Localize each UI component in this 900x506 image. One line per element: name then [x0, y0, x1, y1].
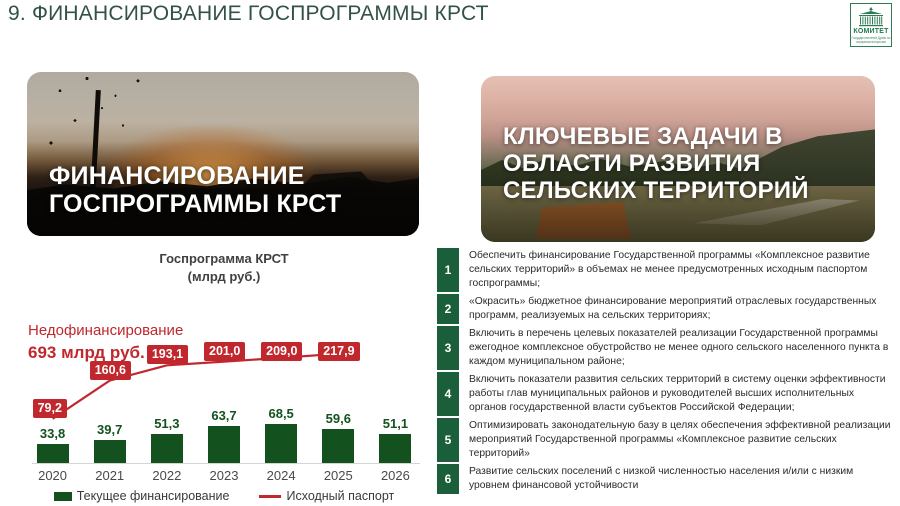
- x-axis-tick-label: 2020: [26, 468, 80, 483]
- logo-wordmark: КОМИТЕТ: [853, 28, 888, 35]
- task-number-badge: 2: [437, 294, 459, 324]
- task-row[interactable]: 4Включить показатели развития сельских т…: [437, 372, 893, 416]
- banner-right-title: КЛЮЧЕВЫЕ ЗАДАЧИ В ОБЛАСТИ РАЗВИТИЯ СЕЛЬС…: [503, 124, 859, 205]
- x-axis-tick-label: 2024: [254, 468, 308, 483]
- banner-left-title: ФИНАНСИРОВАНИЕ ГОСПРОГРАММЫ КРСТ: [49, 162, 403, 218]
- key-tasks-list: 1Обеспечить финансирование Государственн…: [437, 248, 893, 496]
- task-text: Развитие сельских поселений с низкой чис…: [459, 464, 893, 494]
- line-value-badge: 209,0: [261, 342, 302, 361]
- chart-subtitle: (млрд руб.): [14, 268, 434, 286]
- logo-subtitle: Государственной Думы по аграрным вопроса…: [851, 36, 891, 44]
- committee-logo: КОМИТЕТ Государственной Думы по аграрным…: [850, 3, 892, 47]
- task-row[interactable]: 5Оптимизировать законодательную базу в ц…: [437, 418, 893, 462]
- x-axis-tick-label: 2021: [83, 468, 137, 483]
- task-row[interactable]: 3Включить в перечень целевых показателей…: [437, 326, 893, 370]
- duma-building-icon: [853, 6, 889, 28]
- x-axis-tick-label: 2023: [197, 468, 251, 483]
- banner-key-tasks: КЛЮЧЕВЫЕ ЗАДАЧИ В ОБЛАСТИ РАЗВИТИЯ СЕЛЬС…: [481, 76, 875, 242]
- legend-label-passport: Исходный паспорт: [286, 489, 394, 503]
- line-value-badge: 217,9: [318, 342, 359, 361]
- legend-item-passport: Исходный паспорт: [259, 489, 394, 503]
- line-series: 79,2160,6193,1201,0209,0217,9: [24, 342, 424, 464]
- shortfall-caption: Недофинансирование: [28, 322, 183, 339]
- x-axis-tick-label: 2026: [368, 468, 422, 483]
- task-number-badge: 6: [437, 464, 459, 494]
- slide: 9. ФИНАНСИРОВАНИЕ ГОСПРОГРАММЫ КРСТ КОМИ…: [0, 0, 900, 506]
- chart-title: Госпрограмма КРСТ (млрд руб.): [14, 250, 434, 285]
- task-text: Включить показатели развития сельских те…: [459, 372, 893, 416]
- task-text: Включить в перечень целевых показателей …: [459, 326, 893, 370]
- line-value-badge: 193,1: [147, 345, 188, 364]
- page-title: 9. ФИНАНСИРОВАНИЕ ГОСПРОГРАММЫ КРСТ: [8, 2, 489, 26]
- task-number-badge: 4: [437, 372, 459, 416]
- task-text: «Окрасить» бюджетное финансирование меро…: [459, 294, 893, 324]
- task-number-badge: 5: [437, 418, 459, 462]
- banner-financing: ФИНАНСИРОВАНИЕ ГОСПРОГРАММЫ КРСТ: [27, 72, 419, 236]
- line-value-badge: 201,0: [204, 342, 245, 361]
- task-number-badge: 3: [437, 326, 459, 370]
- x-axis-tick-label: 2022: [140, 468, 194, 483]
- line-value-badge: 160,6: [90, 361, 131, 380]
- financing-chart: Госпрограмма КРСТ (млрд руб.) Недофинанс…: [14, 246, 434, 504]
- chart-title-main: Госпрограмма КРСТ: [159, 251, 288, 266]
- legend-item-current: Текущее финансирование: [54, 489, 230, 503]
- task-text: Оптимизировать законодательную базу в це…: [459, 418, 893, 462]
- legend-swatch-bar-icon: [54, 492, 72, 501]
- line-value-badge: 79,2: [33, 399, 67, 418]
- x-axis-labels: 2020202120222023202420252026: [24, 468, 424, 488]
- task-number-badge: 1: [437, 248, 459, 292]
- task-row[interactable]: 6Развитие сельских поселений с низкой чи…: [437, 464, 893, 494]
- x-axis-tick-label: 2025: [311, 468, 365, 483]
- legend-label-current: Текущее финансирование: [77, 489, 230, 503]
- task-row[interactable]: 1Обеспечить финансирование Государственн…: [437, 248, 893, 292]
- legend-swatch-line-icon: [259, 495, 281, 498]
- task-row[interactable]: 2«Окрасить» бюджетное финансирование мер…: [437, 294, 893, 324]
- task-text: Обеспечить финансирование Государственно…: [459, 248, 893, 292]
- chart-legend: Текущее финансирование Исходный паспорт: [14, 489, 434, 503]
